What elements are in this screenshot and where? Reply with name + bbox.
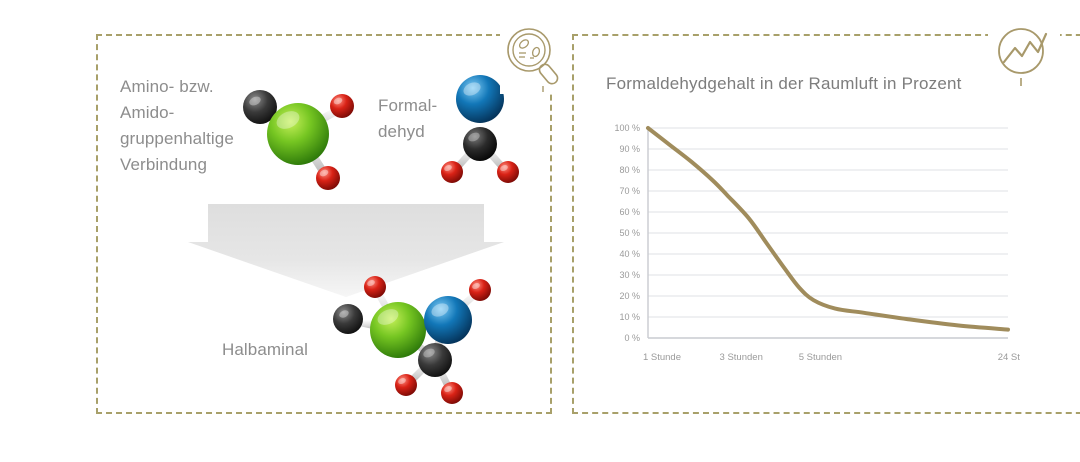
trend-circle-icon (988, 20, 1060, 92)
line-chart: 100 %90 %80 %70 %60 %50 %40 %30 %20 %10 … (600, 120, 1020, 380)
chart-title: Formaldehydgehalt in der Raumluft in Pro… (606, 74, 962, 94)
screenshot-stage: Amino- bzw. Amido- gruppenhaltige Verbin… (0, 0, 1080, 462)
chart-xtick-label: 3 Stunden (720, 352, 763, 363)
svg-text:40 %: 40 % (619, 249, 640, 259)
magnifier-molecules-icon (500, 22, 572, 94)
svg-text:90 %: 90 % (619, 144, 640, 154)
amino-compound-molecule (230, 80, 366, 196)
svg-text:20 %: 20 % (619, 291, 640, 301)
chart-xtick-label: 5 Stunden (799, 352, 842, 363)
svg-text:50 %: 50 % (619, 228, 640, 238)
svg-text:70 %: 70 % (619, 186, 640, 196)
svg-text:30 %: 30 % (619, 270, 640, 280)
svg-text:100 %: 100 % (614, 123, 640, 133)
chart-xtick-label: 24 Stunden (998, 352, 1020, 363)
svg-text:60 %: 60 % (619, 207, 640, 217)
chart-series-line (648, 128, 1008, 330)
svg-text:80 %: 80 % (619, 165, 640, 175)
svg-text:10 %: 10 % (619, 312, 640, 322)
halbaminal-label: Halbaminal (222, 337, 402, 363)
svg-text:0 %: 0 % (624, 333, 640, 343)
chart-xtick-label: 1 Stunde (643, 352, 681, 363)
